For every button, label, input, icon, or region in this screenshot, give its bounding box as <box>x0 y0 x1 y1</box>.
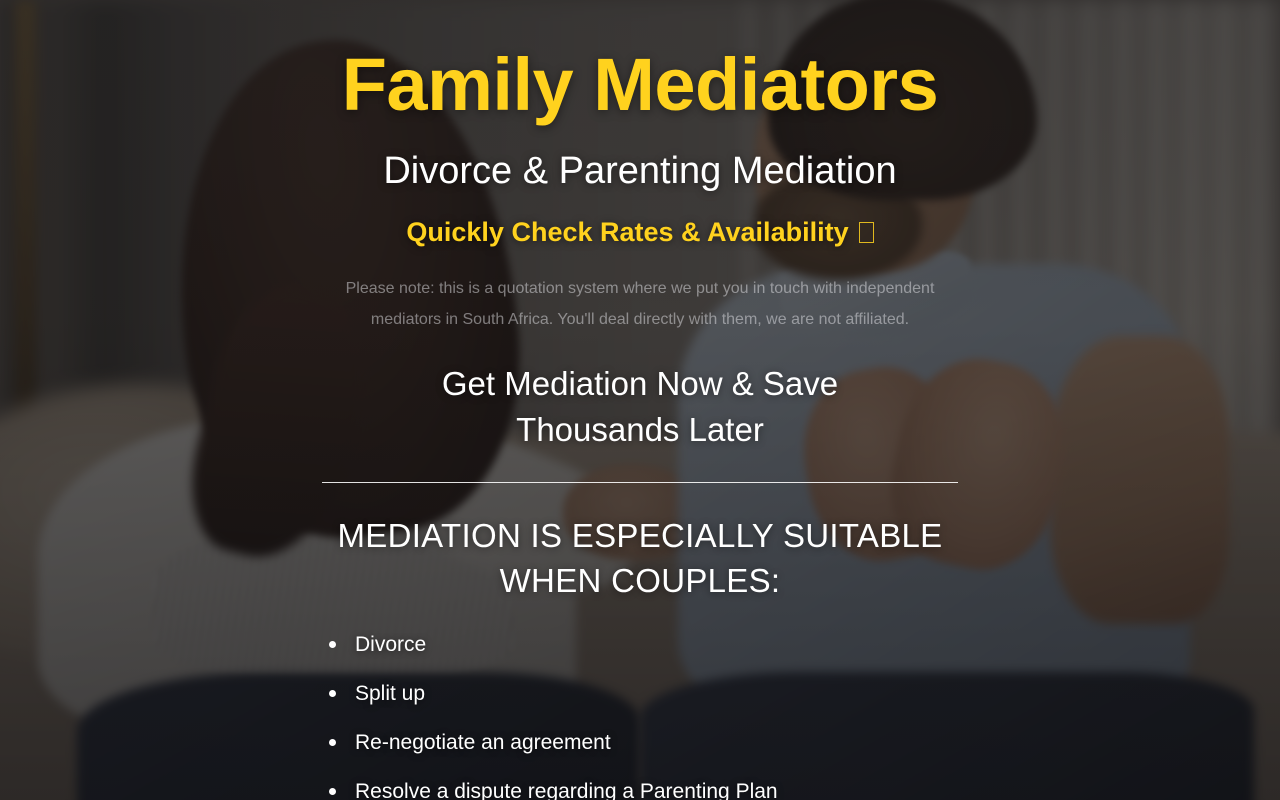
bullet-dot-icon <box>329 788 336 795</box>
list-item: Resolve a dispute regarding a Parenting … <box>322 779 958 800</box>
page-subtitle: Divorce & Parenting Mediation <box>0 150 1280 194</box>
list-item: Divorce <box>322 632 958 657</box>
section-divider <box>322 482 958 483</box>
bullet-dot-icon <box>329 690 336 697</box>
list-item-label: Re-negotiate an agreement <box>355 731 611 754</box>
hero-page: Family Mediators Divorce & Parenting Med… <box>0 0 1280 800</box>
suitable-list: Divorce Split up Re-negotiate an agreeme… <box>322 632 958 800</box>
bullet-dot-icon <box>329 641 336 648</box>
disclaimer-note: Please note: this is a quotation system … <box>320 274 960 335</box>
suitable-section-title: MEDIATION IS ESPECIALLY SUITABLE WHEN CO… <box>330 513 950 604</box>
list-item-label: Divorce <box>355 633 426 656</box>
check-rates-link[interactable]: Quickly Check Rates & Availability <box>406 217 873 248</box>
value-proposition-heading: Get Mediation Now & Save Thousands Later <box>360 361 920 453</box>
list-item-label: Resolve a dispute regarding a Parenting … <box>355 780 778 800</box>
check-rates-label: Quickly Check Rates & Availability <box>406 217 848 247</box>
missing-glyph-box-icon <box>859 222 874 243</box>
list-item: Re-negotiate an agreement <box>322 730 958 755</box>
bullet-dot-icon <box>329 739 336 746</box>
list-item: Split up <box>322 681 958 706</box>
page-title: Family Mediators <box>0 46 1280 124</box>
hero-content: Family Mediators Divorce & Parenting Med… <box>0 0 1280 800</box>
list-item-label: Split up <box>355 682 425 705</box>
